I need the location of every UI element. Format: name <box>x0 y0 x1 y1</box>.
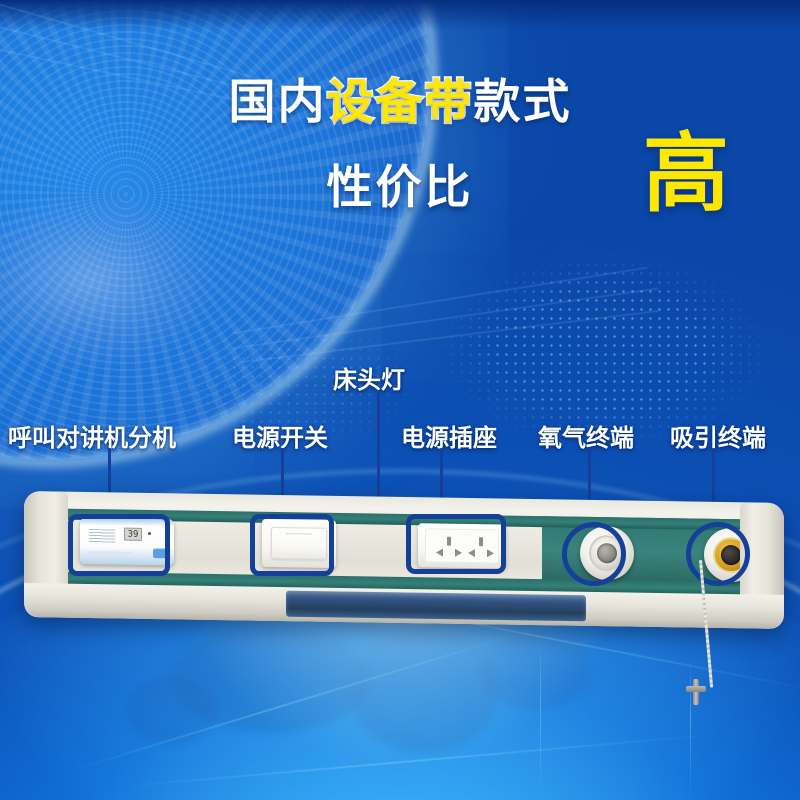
highlight-box-socket <box>406 514 506 574</box>
headline-emphasis: 高 <box>643 131 729 217</box>
highlight-circle-suction <box>686 522 750 586</box>
callout-label-socket: 电源插座 <box>401 418 497 453</box>
callout-label-suction: 吸引终端 <box>670 418 766 453</box>
promo-image: 国内设备带款式 性价比 高 呼叫对讲机分机 电源开关 床头灯 电源插座 氧气终端… <box>0 0 800 800</box>
connector-shaft <box>693 679 699 705</box>
callout-label-bedlamp: 床头灯 <box>333 360 405 395</box>
bed-lamp-diffuser <box>286 591 586 622</box>
headline-line-1: 国内设备带款式 <box>0 78 800 125</box>
headline-part-1: 国内 <box>229 75 327 128</box>
highlight-box-switch <box>250 514 334 576</box>
hose-connector-icon <box>686 679 706 705</box>
headline-part-3: 款式 <box>474 75 572 128</box>
headline-block: 国内设备带款式 性价比 高 <box>0 78 800 229</box>
top-vignette <box>0 0 800 30</box>
highlight-box-intercom <box>68 514 170 576</box>
connector-cross <box>686 686 706 692</box>
headline-part-2-highlight: 设备带 <box>327 75 474 128</box>
callout-label-intercom: 呼叫对讲机分机 <box>8 418 176 453</box>
callout-label-switch: 电源开关 <box>232 418 328 453</box>
headline-line-2: 性价比 高 <box>0 147 800 229</box>
callout-label-oxygen: 氧气终端 <box>538 418 634 453</box>
highlight-circle-oxygen <box>562 522 626 586</box>
